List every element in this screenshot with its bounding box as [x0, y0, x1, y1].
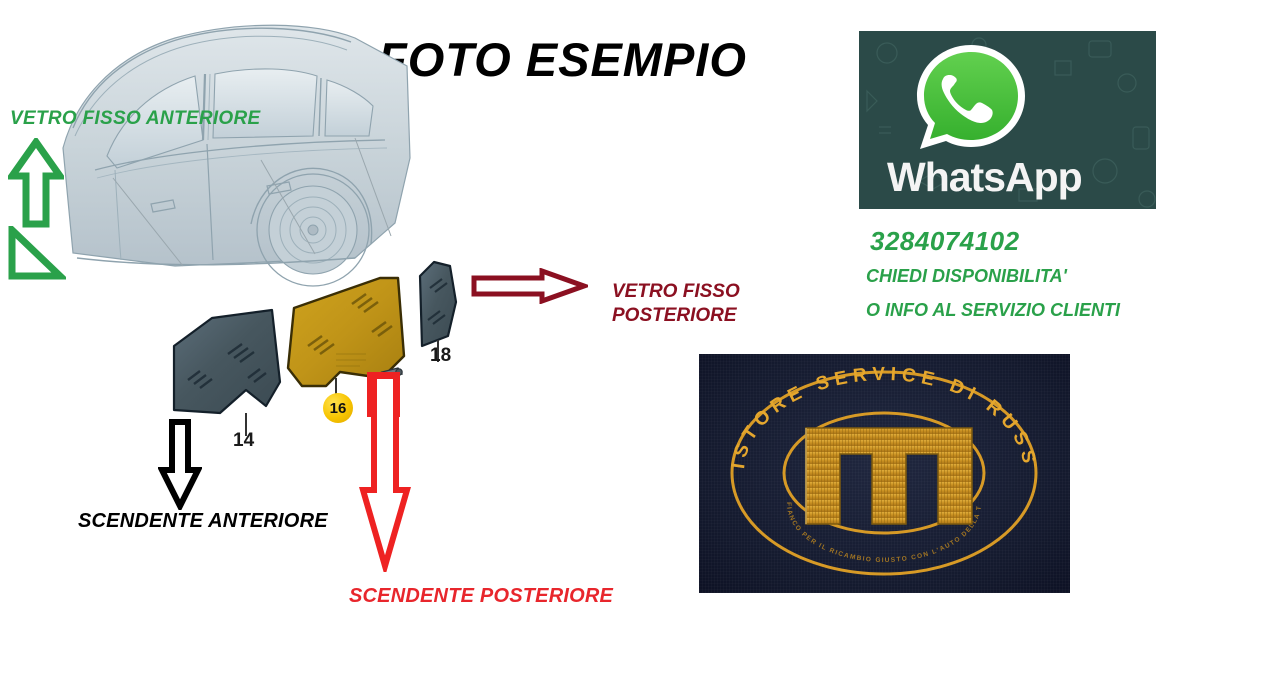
whatsapp-logo-icon: [906, 39, 1036, 161]
label-scendente-anteriore: SCENDENTE ANTERIORE: [78, 510, 328, 533]
whatsapp-phone-number: 3284074102: [870, 226, 1020, 257]
whatsapp-banner: WhatsApp: [859, 31, 1156, 209]
contact-line-1: CHIEDI DISPONIBILITA': [866, 266, 1067, 287]
label-vetro-fisso-posteriore: VETRO FISSO POSTERIORE: [612, 280, 740, 328]
whatsapp-wordmark: WhatsApp: [887, 157, 1137, 198]
label-scendente-posteriore: SCENDENTE POSTERIORE: [349, 585, 613, 608]
green-triangle-icon: [6, 226, 66, 282]
page-title: FOTO ESEMPIO: [378, 36, 798, 83]
red-down-arrow-icon: [359, 372, 411, 572]
label-vetro-fisso-anteriore: VETRO FISSO ANTERIORE: [10, 108, 261, 130]
part-number-badge-16: 16: [323, 393, 353, 423]
dark-red-right-arrow-icon: [470, 268, 588, 304]
contact-line-2: O INFO AL SERVIZIO CLIENTI: [866, 300, 1120, 321]
green-up-arrow-icon: [8, 138, 64, 228]
brand-logo-photo: MRICAMBISTORE SERVICE DI RUSSO MARCO AL …: [699, 354, 1070, 593]
black-down-arrow-icon: [158, 418, 202, 510]
part-number-14: 14: [233, 430, 254, 452]
label-vetro-fisso-posteriore-line1: VETRO FISSO: [612, 280, 740, 304]
label-vetro-fisso-posteriore-line2: POSTERIORE: [612, 304, 740, 328]
part-number-18: 18: [430, 345, 451, 367]
